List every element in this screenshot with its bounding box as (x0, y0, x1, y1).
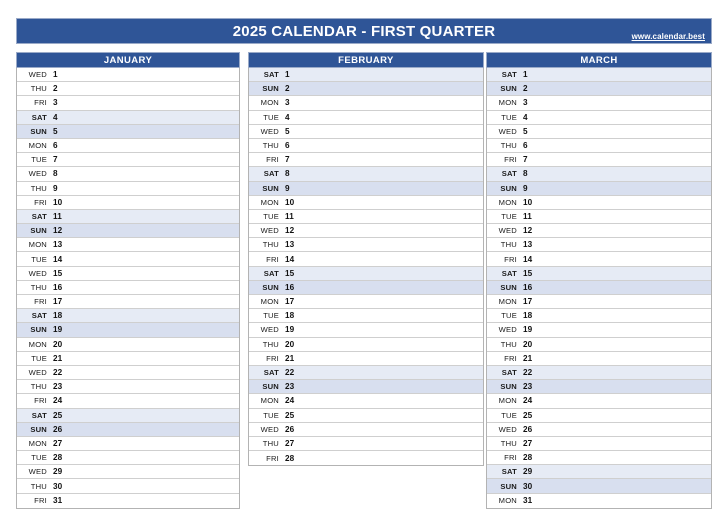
day-row[interactable]: SAT1 (487, 68, 711, 82)
day-number-label: 28 (53, 453, 62, 462)
day-row[interactable]: MON31 (487, 494, 711, 508)
month-name-label: JANUARY (104, 55, 152, 66)
day-row[interactable]: THU13 (487, 238, 711, 252)
day-of-week-label: FRI (487, 354, 523, 363)
day-row[interactable]: SUN23 (249, 380, 483, 394)
day-number-label: 31 (523, 496, 532, 505)
day-row[interactable]: TUE11 (249, 210, 483, 224)
day-number-label: 6 (285, 141, 290, 150)
day-of-week-label: FRI (487, 453, 523, 462)
day-number-label: 17 (53, 297, 62, 306)
day-number-label: 10 (523, 198, 532, 207)
day-row[interactable]: SUN5 (17, 125, 239, 139)
day-row[interactable]: SAT11 (17, 210, 239, 224)
day-number-label: 6 (53, 141, 58, 150)
day-row[interactable]: TUE4 (487, 111, 711, 125)
day-of-week-label: THU (249, 340, 285, 349)
day-number-label: 11 (53, 212, 62, 221)
day-number-label: 3 (285, 98, 290, 107)
day-number-label: 27 (523, 439, 532, 448)
day-number-label: 14 (53, 255, 62, 264)
day-row[interactable]: WED8 (17, 167, 239, 181)
day-of-week-label: SUN (17, 325, 53, 334)
day-of-week-label: TUE (487, 212, 523, 221)
day-number-label: 10 (285, 198, 294, 207)
day-of-week-label: SAT (17, 411, 53, 420)
day-of-week-label: WED (17, 169, 53, 178)
day-of-week-label: MON (487, 98, 523, 107)
day-row[interactable]: SAT22 (487, 366, 711, 380)
day-number-label: 21 (285, 354, 294, 363)
day-of-week-label: MON (487, 198, 523, 207)
month-column-march: MARCH SAT1SUN2MON3TUE4WED5THU6FRI7SAT8SU… (486, 52, 712, 509)
day-row[interactable]: SUN23 (487, 380, 711, 394)
day-row[interactable]: THU30 (17, 479, 239, 493)
day-number-label: 29 (53, 467, 62, 476)
day-row[interactable]: THU23 (17, 380, 239, 394)
day-of-week-label: FRI (249, 255, 285, 264)
day-of-week-label: SAT (487, 269, 523, 278)
day-of-week-label: THU (249, 141, 285, 150)
day-number-label: 25 (523, 411, 532, 420)
day-row[interactable]: THU27 (249, 437, 483, 451)
day-row[interactable]: MON24 (487, 394, 711, 408)
day-row[interactable]: WED1 (17, 68, 239, 82)
day-row[interactable]: SUN12 (17, 224, 239, 238)
day-of-week-label: TUE (487, 311, 523, 320)
day-number-label: 23 (285, 382, 294, 391)
day-of-week-label: MON (249, 98, 285, 107)
day-of-week-label: SUN (249, 184, 285, 193)
day-of-week-label: THU (487, 141, 523, 150)
month-name-label: MARCH (580, 55, 617, 66)
day-of-week-label: MON (249, 297, 285, 306)
day-number-label: 16 (53, 283, 62, 292)
day-number-label: 12 (285, 226, 294, 235)
day-number-label: 15 (53, 269, 62, 278)
day-row[interactable]: MON13 (17, 238, 239, 252)
day-number-label: 22 (53, 368, 62, 377)
day-row[interactable]: FRI21 (487, 352, 711, 366)
day-of-week-label: THU (17, 482, 53, 491)
day-row[interactable]: WED29 (17, 465, 239, 479)
day-row[interactable]: THU20 (487, 338, 711, 352)
month-header-january: JANUARY (16, 52, 240, 68)
day-number-label: 4 (285, 113, 290, 122)
day-number-label: 8 (285, 169, 290, 178)
day-of-week-label: MON (249, 198, 285, 207)
month-column-february: FEBRUARY SAT1SUN2MON3TUE4WED5THU6FRI7SAT… (248, 52, 484, 466)
day-of-week-label: MON (17, 141, 53, 150)
months-container: JANUARY WED1THU2FRI3SAT4SUN5MON6TUE7WED8… (0, 52, 728, 512)
day-number-label: 16 (285, 283, 294, 292)
day-of-week-label: FRI (17, 198, 53, 207)
day-number-label: 26 (523, 425, 532, 434)
day-number-label: 29 (523, 467, 532, 476)
day-number-label: 1 (53, 70, 58, 79)
day-row[interactable]: FRI14 (249, 252, 483, 266)
day-of-week-label: SUN (487, 184, 523, 193)
day-row[interactable]: WED19 (249, 323, 483, 337)
day-number-label: 22 (285, 368, 294, 377)
day-list-january: WED1THU2FRI3SAT4SUN5MON6TUE7WED8THU9FRI1… (16, 68, 240, 509)
day-row[interactable]: SUN19 (17, 323, 239, 337)
day-row[interactable]: SUN16 (249, 281, 483, 295)
day-row[interactable]: TUE18 (487, 309, 711, 323)
day-number-label: 26 (53, 425, 62, 434)
day-number-label: 22 (523, 368, 532, 377)
day-number-label: 14 (523, 255, 532, 264)
calendar-page: 2025 CALENDAR - FIRST QUARTER www.calend… (0, 0, 728, 515)
day-of-week-label: SUN (487, 283, 523, 292)
day-of-week-label: MON (17, 340, 53, 349)
day-of-week-label: WED (487, 226, 523, 235)
day-of-week-label: WED (487, 127, 523, 136)
day-number-label: 17 (285, 297, 294, 306)
day-of-week-label: MON (17, 240, 53, 249)
day-row[interactable]: SAT22 (249, 366, 483, 380)
day-number-label: 9 (285, 184, 290, 193)
day-of-week-label: WED (17, 70, 53, 79)
day-row[interactable]: THU6 (249, 139, 483, 153)
day-row[interactable]: SAT1 (249, 68, 483, 82)
day-of-week-label: SAT (249, 368, 285, 377)
day-of-week-label: SUN (17, 425, 53, 434)
day-number-label: 2 (285, 84, 290, 93)
day-row[interactable]: TUE4 (249, 111, 483, 125)
day-of-week-label: TUE (17, 354, 53, 363)
day-row[interactable]: SAT18 (17, 309, 239, 323)
day-number-label: 20 (285, 340, 294, 349)
day-row[interactable]: MON27 (17, 437, 239, 451)
day-row[interactable]: THU27 (487, 437, 711, 451)
day-of-week-label: SUN (249, 382, 285, 391)
day-row[interactable]: SUN2 (487, 82, 711, 96)
day-number-label: 30 (523, 482, 532, 491)
day-number-label: 19 (523, 325, 532, 334)
day-row[interactable]: THU13 (249, 238, 483, 252)
day-of-week-label: MON (487, 297, 523, 306)
day-number-label: 4 (523, 113, 528, 122)
day-row[interactable]: MON6 (17, 139, 239, 153)
day-number-label: 27 (53, 439, 62, 448)
site-url-link[interactable]: www.calendar.best (632, 32, 705, 41)
day-of-week-label: SUN (487, 382, 523, 391)
month-column-january: JANUARY WED1THU2FRI3SAT4SUN5MON6TUE7WED8… (16, 52, 240, 509)
day-of-week-label: FRI (249, 354, 285, 363)
day-of-week-label: THU (487, 240, 523, 249)
day-number-label: 6 (523, 141, 528, 150)
day-number-label: 20 (53, 340, 62, 349)
day-number-label: 23 (53, 382, 62, 391)
day-number-label: 16 (523, 283, 532, 292)
day-number-label: 10 (53, 198, 62, 207)
day-of-week-label: SUN (249, 84, 285, 93)
day-list-march: SAT1SUN2MON3TUE4WED5THU6FRI7SAT8SUN9MON1… (486, 68, 712, 509)
day-row[interactable]: SAT25 (17, 409, 239, 423)
day-list-february: SAT1SUN2MON3TUE4WED5THU6FRI7SAT8SUN9MON1… (248, 68, 484, 466)
day-row[interactable]: MON10 (487, 196, 711, 210)
day-of-week-label: SAT (487, 467, 523, 476)
day-row[interactable]: SUN9 (487, 182, 711, 196)
day-number-label: 7 (285, 155, 290, 164)
day-number-label: 2 (53, 84, 58, 93)
day-of-week-label: WED (17, 269, 53, 278)
day-row[interactable]: MON17 (249, 295, 483, 309)
day-row[interactable]: FRI3 (17, 96, 239, 110)
day-row[interactable]: MON10 (249, 196, 483, 210)
day-of-week-label: WED (487, 425, 523, 434)
day-of-week-label: TUE (17, 155, 53, 164)
day-row[interactable]: THU9 (17, 182, 239, 196)
day-number-label: 31 (53, 496, 62, 505)
day-of-week-label: WED (17, 467, 53, 476)
day-number-label: 24 (285, 396, 294, 405)
day-of-week-label: FRI (249, 454, 285, 463)
day-row[interactable]: SAT8 (487, 167, 711, 181)
day-number-label: 9 (523, 184, 528, 193)
day-row[interactable]: TUE28 (17, 451, 239, 465)
page-title: 2025 CALENDAR - FIRST QUARTER (233, 23, 496, 40)
day-of-week-label: SAT (17, 311, 53, 320)
day-number-label: 5 (285, 127, 290, 136)
day-row[interactable]: FRI10 (17, 196, 239, 210)
day-of-week-label: MON (17, 439, 53, 448)
day-of-week-label: SAT (249, 269, 285, 278)
month-name-label: FEBRUARY (338, 55, 394, 66)
day-row[interactable]: THU6 (487, 139, 711, 153)
day-row[interactable]: WED12 (249, 224, 483, 238)
day-number-label: 7 (523, 155, 528, 164)
day-number-label: 18 (53, 311, 62, 320)
day-number-label: 20 (523, 340, 532, 349)
day-row[interactable]: FRI14 (487, 252, 711, 266)
day-number-label: 25 (285, 411, 294, 420)
day-row[interactable]: TUE18 (249, 309, 483, 323)
day-number-label: 19 (53, 325, 62, 334)
day-of-week-label: WED (17, 368, 53, 377)
day-number-label: 12 (523, 226, 532, 235)
day-of-week-label: WED (487, 325, 523, 334)
day-of-week-label: SAT (487, 70, 523, 79)
day-number-label: 21 (523, 354, 532, 363)
day-of-week-label: THU (17, 184, 53, 193)
day-of-week-label: SAT (249, 70, 285, 79)
day-row[interactable]: SUN2 (249, 82, 483, 96)
day-row[interactable]: TUE11 (487, 210, 711, 224)
day-row[interactable]: THU2 (17, 82, 239, 96)
day-of-week-label: SUN (487, 84, 523, 93)
day-number-label: 23 (523, 382, 532, 391)
day-row[interactable]: MON24 (249, 394, 483, 408)
day-row[interactable]: SUN26 (17, 423, 239, 437)
day-of-week-label: THU (487, 439, 523, 448)
day-row[interactable]: MON20 (17, 338, 239, 352)
day-number-label: 21 (53, 354, 62, 363)
day-number-label: 28 (285, 454, 294, 463)
day-row[interactable]: SAT4 (17, 111, 239, 125)
day-of-week-label: THU (487, 340, 523, 349)
day-of-week-label: FRI (17, 496, 53, 505)
month-header-march: MARCH (486, 52, 712, 68)
day-number-label: 1 (285, 70, 290, 79)
day-row[interactable]: SUN30 (487, 479, 711, 493)
day-of-week-label: TUE (487, 113, 523, 122)
day-number-label: 9 (53, 184, 58, 193)
day-of-week-label: MON (487, 496, 523, 505)
day-of-week-label: SAT (17, 212, 53, 221)
day-row[interactable]: SAT29 (487, 465, 711, 479)
day-row[interactable]: WED22 (17, 366, 239, 380)
day-row[interactable]: TUE21 (17, 352, 239, 366)
month-header-february: FEBRUARY (248, 52, 484, 68)
day-number-label: 8 (53, 169, 58, 178)
day-row[interactable]: THU16 (17, 281, 239, 295)
day-number-label: 30 (53, 482, 62, 491)
day-row[interactable]: WED12 (487, 224, 711, 238)
day-number-label: 18 (285, 311, 294, 320)
day-row[interactable]: FRI28 (487, 451, 711, 465)
day-of-week-label: THU (17, 283, 53, 292)
day-number-label: 25 (53, 411, 62, 420)
day-of-week-label: MON (487, 396, 523, 405)
day-of-week-label: SAT (487, 169, 523, 178)
day-number-label: 11 (523, 212, 532, 221)
day-of-week-label: TUE (17, 255, 53, 264)
day-of-week-label: SUN (487, 482, 523, 491)
day-number-label: 3 (523, 98, 528, 107)
day-row[interactable]: WED5 (487, 125, 711, 139)
day-number-label: 11 (285, 212, 294, 221)
day-of-week-label: TUE (17, 453, 53, 462)
day-row[interactable]: TUE7 (17, 153, 239, 167)
day-of-week-label: FRI (17, 297, 53, 306)
day-number-label: 7 (53, 155, 58, 164)
day-of-week-label: TUE (249, 311, 285, 320)
day-of-week-label: TUE (487, 411, 523, 420)
day-row[interactable]: FRI17 (17, 295, 239, 309)
day-of-week-label: TUE (249, 411, 285, 420)
day-number-label: 5 (523, 127, 528, 136)
day-row[interactable]: FRI28 (249, 451, 483, 465)
day-row[interactable]: SAT15 (249, 267, 483, 281)
day-of-week-label: TUE (249, 113, 285, 122)
day-number-label: 4 (53, 113, 58, 122)
day-of-week-label: THU (249, 240, 285, 249)
day-of-week-label: MON (249, 396, 285, 405)
day-row[interactable]: TUE14 (17, 252, 239, 266)
day-row[interactable]: WED26 (249, 423, 483, 437)
day-of-week-label: SUN (17, 127, 53, 136)
day-of-week-label: SAT (487, 368, 523, 377)
day-row[interactable]: WED15 (17, 267, 239, 281)
day-number-label: 15 (285, 269, 294, 278)
day-of-week-label: FRI (17, 98, 53, 107)
day-number-label: 13 (523, 240, 532, 249)
day-number-label: 3 (53, 98, 58, 107)
day-of-week-label: FRI (17, 396, 53, 405)
day-row[interactable]: MON17 (487, 295, 711, 309)
day-number-label: 28 (523, 453, 532, 462)
day-of-week-label: TUE (249, 212, 285, 221)
day-number-label: 5 (53, 127, 58, 136)
day-row[interactable]: FRI21 (249, 352, 483, 366)
day-of-week-label: FRI (249, 155, 285, 164)
day-of-week-label: THU (249, 439, 285, 448)
day-number-label: 14 (285, 255, 294, 264)
day-of-week-label: THU (17, 382, 53, 391)
day-number-label: 19 (285, 325, 294, 334)
day-row[interactable]: SUN16 (487, 281, 711, 295)
day-number-label: 27 (285, 439, 294, 448)
day-of-week-label: SUN (17, 226, 53, 235)
day-row[interactable]: FRI31 (17, 494, 239, 508)
day-row[interactable]: FRI7 (487, 153, 711, 167)
day-number-label: 8 (523, 169, 528, 178)
day-of-week-label: SUN (249, 283, 285, 292)
day-row[interactable]: WED26 (487, 423, 711, 437)
day-of-week-label: FRI (487, 155, 523, 164)
day-row[interactable]: SAT15 (487, 267, 711, 281)
day-of-week-label: WED (249, 425, 285, 434)
day-number-label: 2 (523, 84, 528, 93)
day-number-label: 24 (53, 396, 62, 405)
day-number-label: 13 (285, 240, 294, 249)
day-of-week-label: FRI (487, 255, 523, 264)
day-row[interactable]: SUN9 (249, 182, 483, 196)
day-number-label: 18 (523, 311, 532, 320)
day-row[interactable]: TUE25 (249, 409, 483, 423)
day-of-week-label: SAT (17, 113, 53, 122)
day-row[interactable]: FRI7 (249, 153, 483, 167)
day-row[interactable]: THU20 (249, 338, 483, 352)
day-row[interactable]: WED5 (249, 125, 483, 139)
day-number-label: 26 (285, 425, 294, 434)
day-number-label: 12 (53, 226, 62, 235)
day-of-week-label: WED (249, 325, 285, 334)
calendar-title-bar: 2025 CALENDAR - FIRST QUARTER www.calend… (16, 18, 712, 44)
day-of-week-label: WED (249, 127, 285, 136)
day-row[interactable]: MON3 (487, 96, 711, 110)
day-row[interactable]: FRI24 (17, 394, 239, 408)
day-of-week-label: THU (17, 84, 53, 93)
day-number-label: 15 (523, 269, 532, 278)
day-row[interactable]: MON3 (249, 96, 483, 110)
day-row[interactable]: SAT8 (249, 167, 483, 181)
day-row[interactable]: TUE25 (487, 409, 711, 423)
day-number-label: 13 (53, 240, 62, 249)
day-row[interactable]: WED19 (487, 323, 711, 337)
day-of-week-label: WED (249, 226, 285, 235)
day-of-week-label: SAT (249, 169, 285, 178)
day-number-label: 24 (523, 396, 532, 405)
day-number-label: 1 (523, 70, 528, 79)
day-number-label: 17 (523, 297, 532, 306)
